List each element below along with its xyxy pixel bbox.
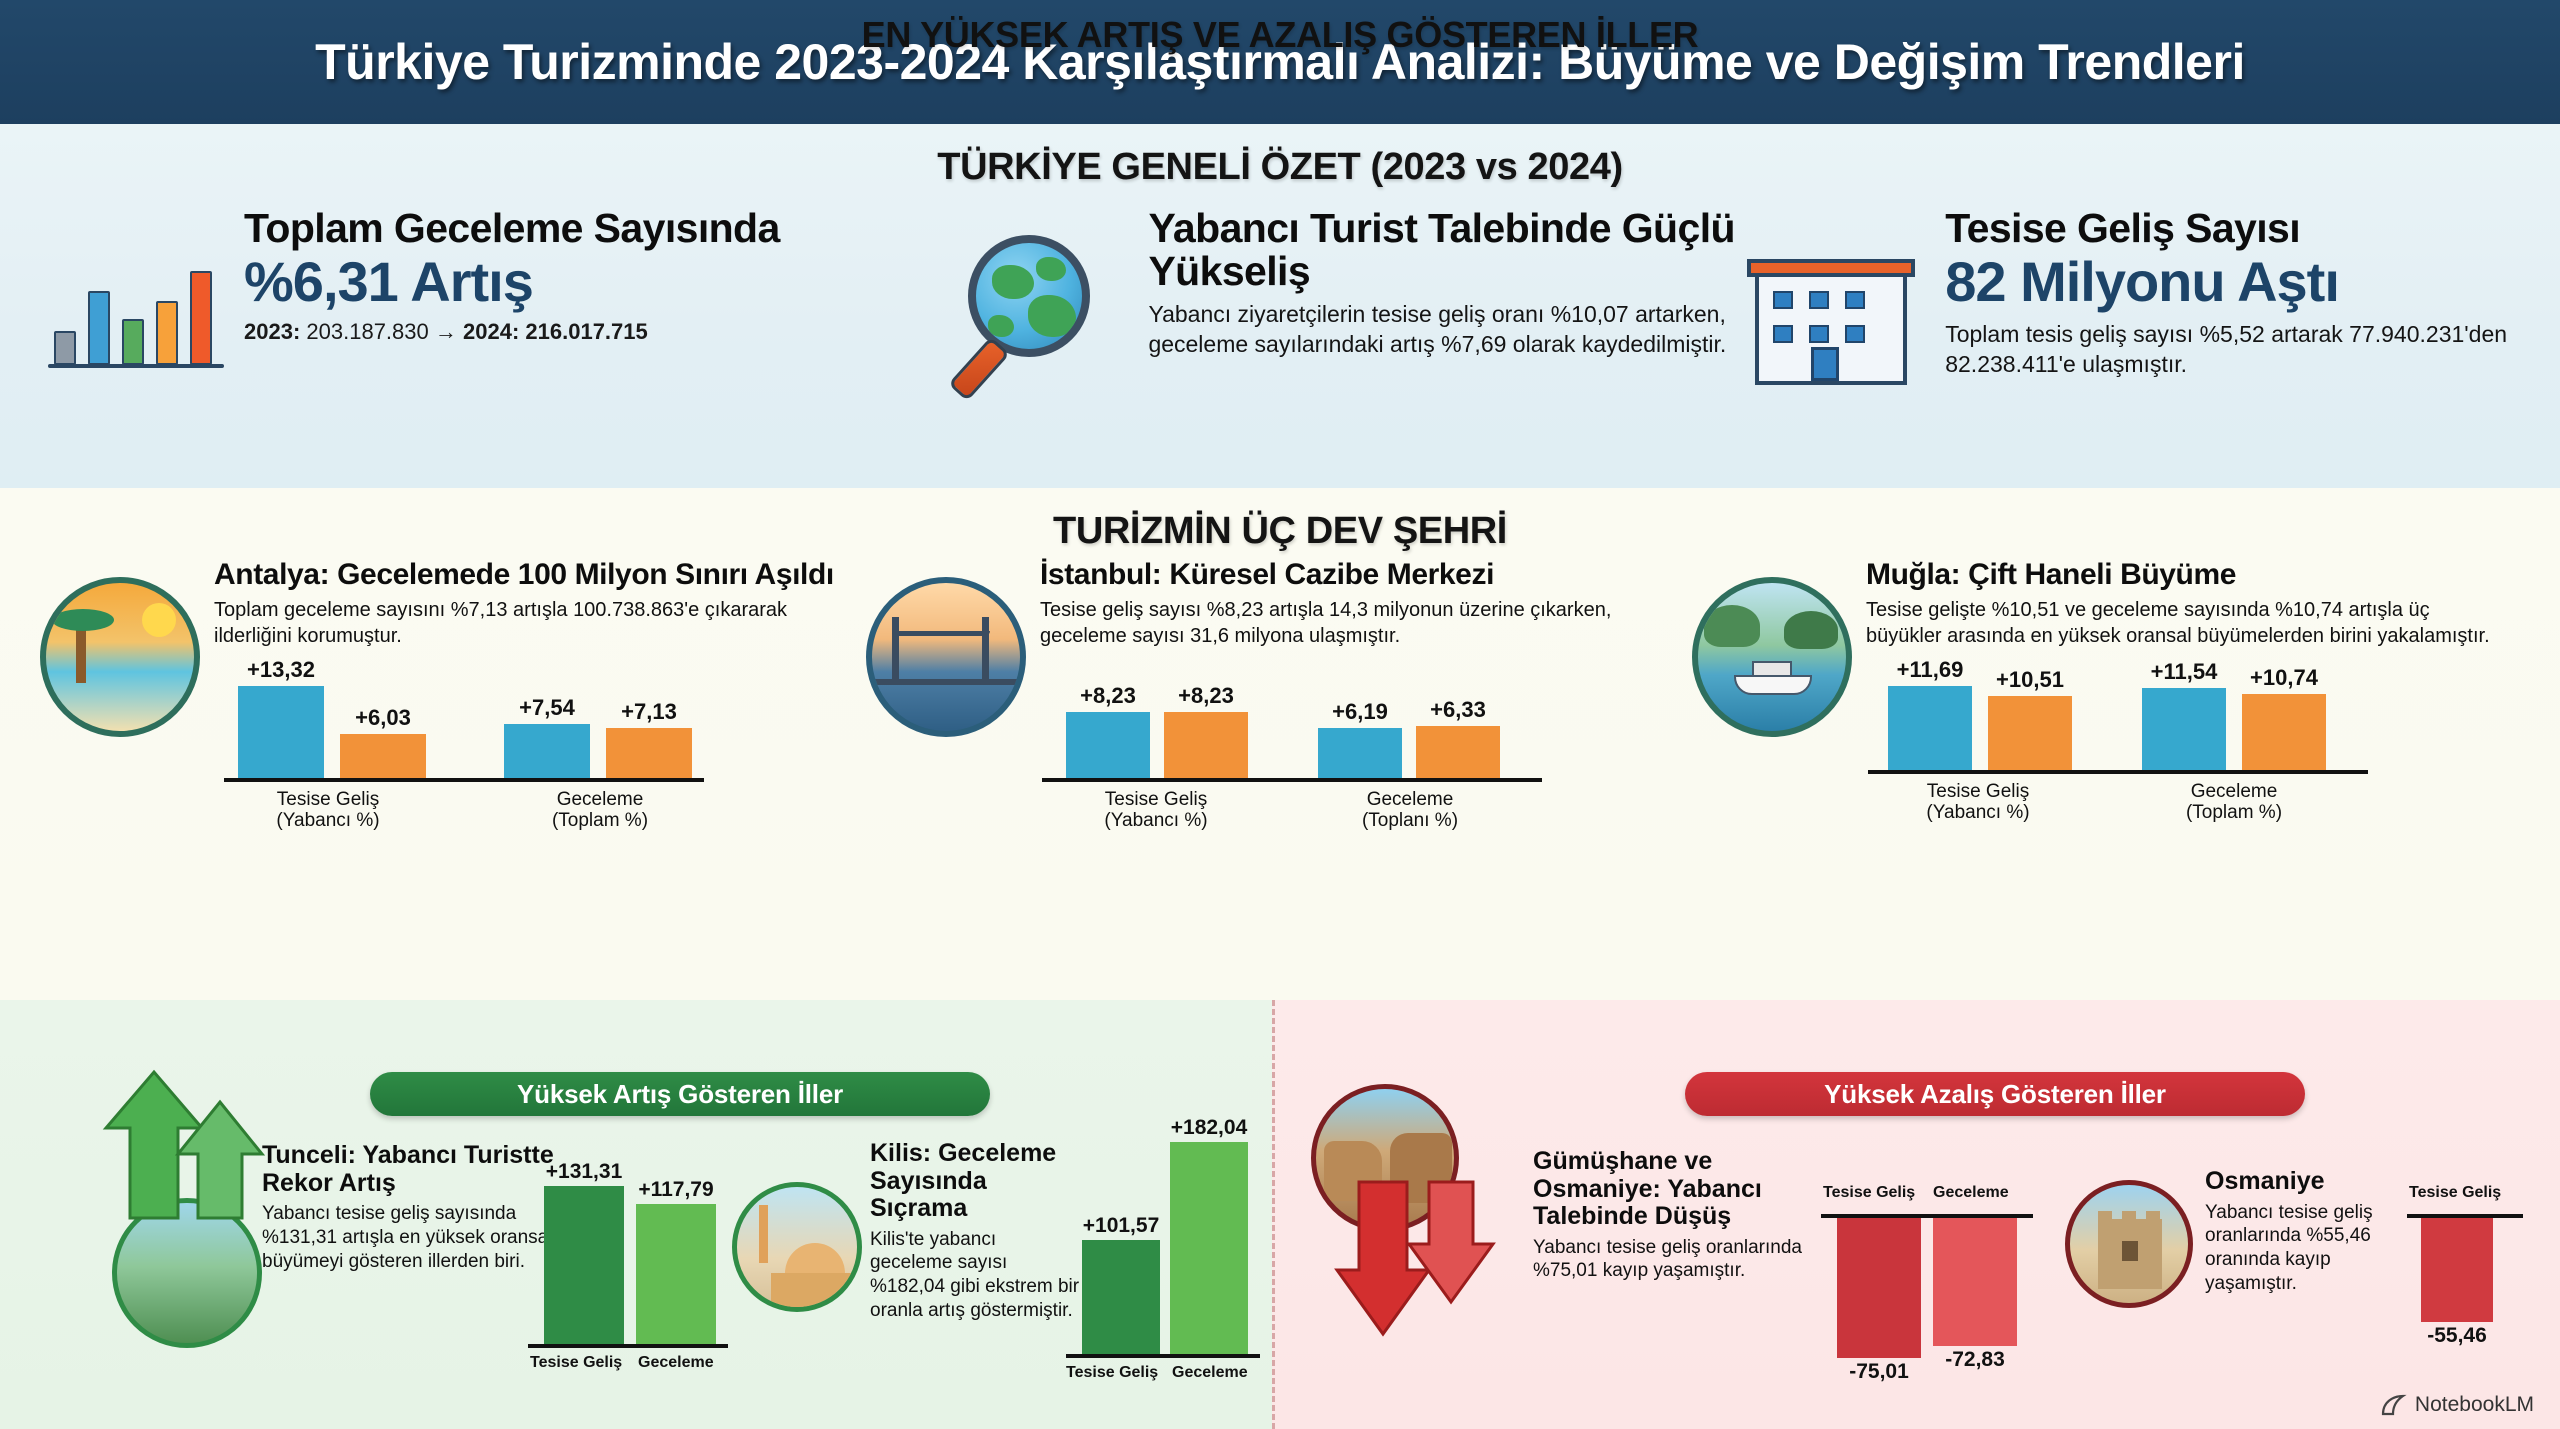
detail-2023-value: 203.187.830 — [306, 319, 428, 344]
province-body: Yabancı tesise geliş oranlarında %55,46 … — [2205, 1201, 2390, 1297]
axis-label: Geceleme — [1933, 1184, 2009, 1202]
bar-tesise-toplam: +8,23 — [1164, 712, 1248, 778]
hotel-icon — [1737, 245, 1927, 395]
bar-tesise-gelis: +131,31 — [544, 1186, 624, 1344]
province-chart-osmaniye: -55,46 Tesise Geliş — [2401, 1178, 2551, 1388]
axis-label: Geceleme — [638, 1354, 714, 1372]
bar-geceleme-yabanci: +7,54 — [504, 724, 590, 778]
axis-label: Geceleme — [1172, 1364, 1248, 1382]
city-chart-mugla: +11,69 +10,51 +11,54 +10,74 Tesise Geliş… — [1866, 652, 2508, 820]
bar-value: +11,54 — [2151, 659, 2218, 685]
axis-label: Tesise Geliş — [2409, 1184, 2501, 1202]
bar-geceleme: +117,79 — [636, 1204, 716, 1344]
cities-section-title: TURİZMİN ÜÇ DEV ŞEHRİ — [0, 488, 2560, 553]
detail-2023-label: 2023: — [244, 319, 300, 344]
bar-tesise-gelis: -55,46 — [2421, 1218, 2493, 1322]
infographic-page: Türkiye Turizminde 2023-2024 Karşılaştır… — [0, 0, 2560, 1429]
province-title: Gümüşhane ve Osmaniye: Yabancı Talebinde… — [1533, 1148, 1833, 1231]
bar-tesise-yabanci: +13,32 — [238, 686, 324, 778]
summary-card-foreign-demand: Yabancı Turist Talebinde Güçlü Yükseliş … — [960, 207, 1737, 403]
bar-geceleme: -72,83 — [1933, 1218, 2017, 1346]
green-arrows-up-icon — [60, 1058, 290, 1358]
notebooklm-icon — [2381, 1394, 2407, 1416]
province-card-osmaniye: Osmaniye Yabancı tesise geliş oranlarınd… — [2205, 1168, 2390, 1296]
province-body: Yabancı tesise geliş oranlarında %75,01 … — [1533, 1236, 1833, 1284]
bar-tesise-gelis: -75,01 — [1837, 1218, 1921, 1358]
provinces-increase-panel: Yüksek Artış Gösteren İller Tunceli: Yab… — [0, 1000, 1272, 1429]
bar-value: -75,01 — [1849, 1360, 1909, 1384]
summary-card-accent: 82 Milyonu Aştı — [1945, 252, 2514, 312]
bar-value: -72,83 — [1945, 1348, 2005, 1372]
provinces-section-title: EN YÜKSEK ARTIŞ VE AZALIŞ GÖSTEREN İLLER — [0, 0, 2560, 56]
city-body: Toplam geceleme sayısını %7,13 artışla 1… — [214, 598, 856, 649]
bar-value: +11,69 — [1897, 657, 1964, 683]
bar-value: +13,32 — [247, 657, 315, 683]
arrow-down-glyph — [1313, 1174, 1543, 1404]
city-title: Antalya: Gecelemede 100 Milyon Sınırı Aş… — [214, 559, 856, 591]
bar-geceleme: +182,04 — [1170, 1142, 1248, 1354]
summary-card-arrivals: Tesise Geliş Sayısı 82 Milyonu Aştı Topl… — [1737, 207, 2514, 395]
province-title: Kilis: Geceleme Sayısında Sıçrama — [870, 1140, 1080, 1223]
magnifier-globe-icon — [960, 233, 1130, 403]
bar-value: -55,46 — [2427, 1324, 2487, 1348]
group-label: Geceleme (Toplanı %) — [1310, 789, 1510, 832]
red-arrows-down-icon — [1297, 1078, 1527, 1368]
watermark: NotebookLM — [2381, 1393, 2534, 1417]
bar-value: +10,74 — [2250, 665, 2318, 691]
summary-card-detail: 2023: 203.187.830 → 2024: 216.017.715 — [244, 318, 780, 346]
beach-palm-icon — [40, 577, 200, 737]
province-title: Tunceli: Yabancı Turistte Rekor Artış — [262, 1142, 562, 1197]
province-card-tunceli: Tunceli: Yabancı Turistte Rekor Artış Ya… — [262, 1142, 562, 1274]
bar-tesise-yabanci: +11,69 — [1888, 686, 1972, 770]
decrease-badge: Yüksek Azalış Gösteren İller — [1685, 1072, 2305, 1116]
detail-2024-label: 2024: — [463, 319, 519, 344]
bar-chart-icon — [46, 259, 226, 379]
bar-geceleme-toplam: +10,74 — [2242, 694, 2326, 770]
province-chart-kilis: +101,57 +182,04 Tesise Geliş Geceleme — [1058, 1110, 1268, 1400]
bar-value: +7,13 — [621, 699, 677, 725]
group-label: Tesise Geliş (Yabancı %) — [228, 789, 428, 832]
province-card-gumushane: Gümüşhane ve Osmaniye: Yabancı Talebinde… — [1533, 1148, 1833, 1283]
bosphorus-bridge-icon — [866, 577, 1026, 737]
increase-badge: Yüksek Artış Gösteren İller — [370, 1072, 990, 1116]
summary-card-title: Toplam Geceleme Sayısında — [244, 207, 780, 250]
province-chart-tunceli: +131,31 +117,79 Tesise Geliş Geceleme — [520, 1150, 740, 1390]
castle-icon — [2065, 1180, 2193, 1308]
summary-card-title: Yabancı Turist Talebinde Güçlü Yükseliş — [1148, 207, 1737, 292]
bar-value: +7,54 — [519, 695, 575, 721]
city-body: Tesise gelişte %10,51 ve geceleme sayısı… — [1866, 598, 2508, 649]
cities-section: TURİZMİN ÜÇ DEV ŞEHRİ Antalya: Gecelemed… — [0, 488, 2560, 1000]
bar-tesise-toplam: +10,51 — [1988, 696, 2072, 770]
summary-section: TÜRKİYE GENELİ ÖZET (2023 vs 2024) Topla… — [0, 124, 2560, 488]
bar-geceleme-toplam: +6,33 — [1416, 726, 1500, 778]
province-chart-gumushane: -75,01 -72,83 Tesise Geliş Geceleme — [1815, 1178, 2045, 1398]
mosque-icon — [732, 1182, 862, 1312]
city-card-mugla: Muğla: Çift Haneli Büyüme Tesise gelişte… — [1692, 559, 2508, 828]
detail-2024-value: 216.017.715 — [525, 319, 647, 344]
city-card-antalya: Antalya: Gecelemede 100 Milyon Sınırı Aş… — [40, 559, 856, 828]
bar-value: +182,04 — [1171, 1116, 1248, 1140]
summary-card-total-nights: Toplam Geceleme Sayısında %6,31 Artış 20… — [46, 207, 960, 379]
summary-card-accent: %6,31 Artış — [244, 252, 780, 312]
group-label: Tesise Geliş (Yabancı %) — [1878, 781, 2078, 824]
province-body: Yabancı tesise geliş sayısında %131,31 a… — [262, 1202, 562, 1274]
bar-tesise-yabanci: +8,23 — [1066, 712, 1150, 778]
axis-label: Tesise Geliş — [530, 1354, 622, 1372]
bar-geceleme-yabanci: +11,54 — [2142, 688, 2226, 770]
summary-card-body: Toplam tesis geliş sayısı %5,52 artarak … — [1945, 320, 2514, 380]
group-label: Geceleme (Toplam %) — [2134, 781, 2334, 824]
bar-value: +6,03 — [355, 705, 411, 731]
bar-value: +8,23 — [1080, 683, 1136, 709]
bar-geceleme-yabanci: +6,19 — [1318, 728, 1402, 778]
bar-value: +131,31 — [546, 1160, 623, 1184]
city-title: İstanbul: Küresel Cazibe Merkezi — [1040, 559, 1682, 591]
provinces-decrease-panel: Yüksek Azalış Gösteren İller Gümüşhane v… — [1272, 1000, 2560, 1429]
watermark-label: NotebookLM — [2415, 1393, 2534, 1417]
bar-value: +8,23 — [1178, 683, 1234, 709]
province-card-kilis: Kilis: Geceleme Sayısında Sıçrama Kilis'… — [870, 1140, 1080, 1323]
bar-value: +117,79 — [638, 1178, 713, 1202]
group-label: Geceleme (Toplam %) — [500, 789, 700, 832]
province-body: Kilis'te yabancı geceleme sayısı %182,04… — [870, 1228, 1080, 1324]
detail-arrow-icon: → — [435, 319, 457, 344]
city-title: Muğla: Çift Haneli Büyüme — [1866, 559, 2508, 591]
bar-tesise-toplam: +6,03 — [340, 734, 426, 778]
group-label: Tesise Geliş (Yabancı %) — [1056, 789, 1256, 832]
bar-geceleme-toplam: +7,13 — [606, 728, 692, 778]
axis-label: Tesise Geliş — [1823, 1184, 1915, 1202]
province-title: Osmaniye — [2205, 1168, 2390, 1196]
city-chart-istanbul: +8,23 +8,23 +6,19 +6,33 Tesise Geliş (Ya… — [1040, 660, 1682, 828]
city-body: Tesise geliş sayısı %8,23 artışla 14,3 m… — [1040, 598, 1682, 649]
summary-card-title: Tesise Geliş Sayısı — [1945, 207, 2514, 250]
bar-value: +6,33 — [1430, 697, 1486, 723]
boat-coast-icon — [1692, 577, 1852, 737]
provinces-section: Yüksek Artış Gösteren İller Tunceli: Yab… — [0, 1000, 2560, 1429]
axis-label: Tesise Geliş — [1066, 1364, 1158, 1382]
bar-tesise-gelis: +101,57 — [1082, 1240, 1160, 1354]
bar-value: +10,51 — [1996, 667, 2064, 693]
summary-section-title: TÜRKİYE GENELİ ÖZET (2023 vs 2024) — [0, 124, 2560, 189]
city-chart-antalya: +13,32 +6,03 +7,54 +7,13 Tesise Geliş (Y… — [214, 660, 856, 828]
city-card-istanbul: İstanbul: Küresel Cazibe Merkezi Tesise … — [866, 559, 1682, 828]
bar-value: +101,57 — [1083, 1214, 1160, 1238]
bar-value: +6,19 — [1332, 699, 1388, 725]
summary-card-body: Yabancı ziyaretçilerin tesise geliş oran… — [1148, 300, 1737, 360]
